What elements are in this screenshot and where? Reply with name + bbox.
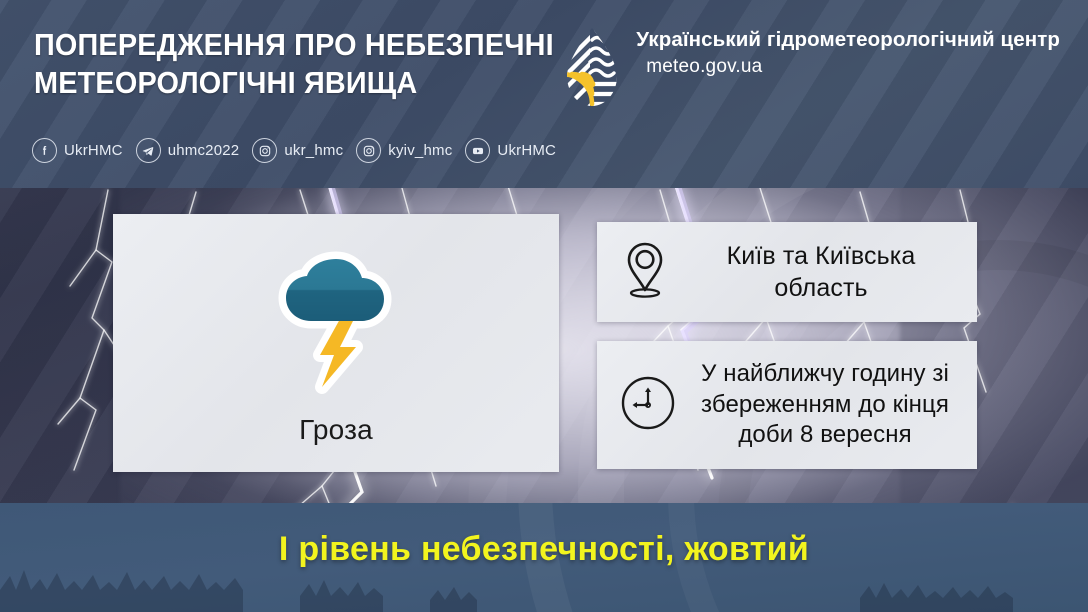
social-link-youtube[interactable]: UkrHMC	[465, 138, 556, 163]
uhmc-droplet-logo	[562, 26, 622, 115]
instagram-icon	[252, 138, 277, 163]
telegram-icon	[136, 138, 161, 163]
logo-text-block: Український гідрометеорологічний центр m…	[636, 26, 1060, 79]
region-card: Київ та Київська область	[597, 222, 977, 322]
social-label: kyiv_hmc	[388, 142, 452, 159]
social-links-row: UkrHMC uhmc2022 ukr_hm	[32, 138, 556, 163]
organization-website: meteo.gov.ua	[636, 56, 1060, 79]
hazard-card: Гроза	[113, 214, 559, 472]
time-card: У найближчу годину зі збереженням до кін…	[597, 341, 977, 469]
social-label: uhmc2022	[168, 142, 240, 159]
facebook-icon	[32, 138, 57, 163]
social-link-telegram[interactable]: uhmc2022	[136, 138, 240, 163]
youtube-icon	[465, 138, 490, 163]
hazard-label: Гроза	[299, 414, 373, 446]
organization-logo-block: Український гідрометеорологічний центр m…	[562, 26, 1060, 115]
weather-warning-poster: ПОПЕРЕДЖЕННЯ ПРО НЕБЕЗПЕЧНІ МЕТЕОРОЛОГІЧ…	[0, 0, 1088, 612]
social-label: UkrHMC	[64, 142, 123, 159]
map-pin-icon	[623, 240, 667, 305]
social-label: UkrHMC	[497, 142, 556, 159]
thunderstorm-icon	[270, 247, 402, 400]
social-link-instagram-ukr[interactable]: ukr_hmc	[252, 138, 343, 163]
time-text: У найближчу годину зі збереженням до кін…	[693, 359, 957, 451]
organization-name: Український гідрометеорологічний центр	[636, 28, 1060, 52]
header-band: ПОПЕРЕДЖЕННЯ ПРО НЕБЕЗПЕЧНІ МЕТЕОРОЛОГІЧ…	[0, 0, 1088, 188]
region-text: Київ та Київська область	[687, 240, 955, 305]
footer-band: І рівень небезпечності, жовтий	[0, 503, 1088, 612]
social-label: ukr_hmc	[284, 142, 343, 159]
warning-level-text: І рівень небезпечності, жовтий	[0, 530, 1088, 569]
instagram-icon	[356, 138, 381, 163]
clock-icon	[619, 374, 677, 437]
social-link-facebook[interactable]: UkrHMC	[32, 138, 123, 163]
page-title: ПОПЕРЕДЖЕННЯ ПРО НЕБЕЗПЕЧНІ МЕТЕОРОЛОГІЧ…	[34, 26, 629, 103]
social-link-instagram-kyiv[interactable]: kyiv_hmc	[356, 138, 452, 163]
